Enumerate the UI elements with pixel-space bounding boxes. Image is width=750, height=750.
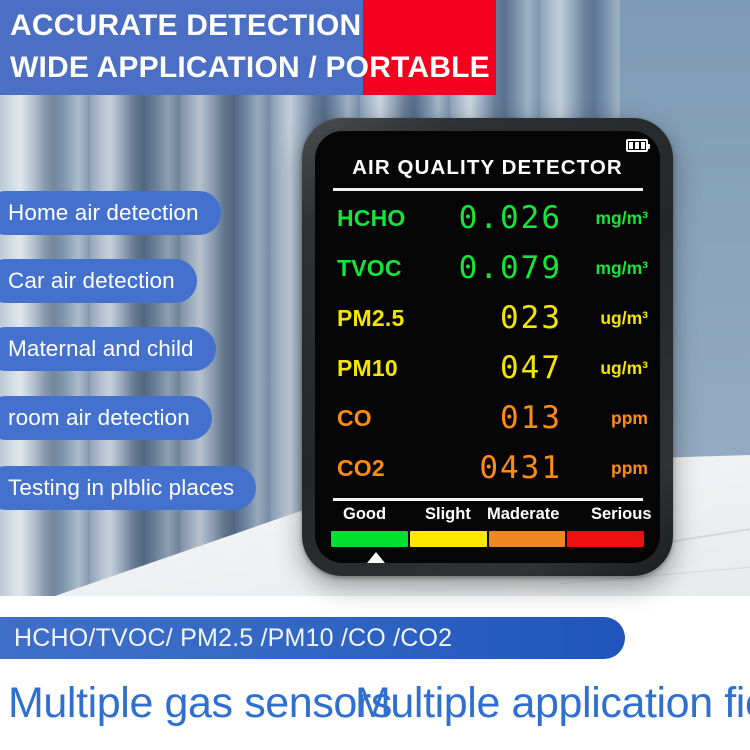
screen-title: AIR QUALITY DETECTOR xyxy=(315,156,660,180)
feature-pill-label: room air detection xyxy=(8,405,190,430)
tagline-right: Multiple application fields xyxy=(355,668,750,738)
reading-unit: ug/m³ xyxy=(600,358,648,379)
quality-pointer-triangle-icon xyxy=(363,552,389,563)
reading-row-co: CO 013 ppm xyxy=(315,393,660,443)
reading-row-tvoc: TVOC 0.079 mg/m³ xyxy=(315,243,660,293)
battery-segment xyxy=(629,142,633,149)
reading-value: 0.079 xyxy=(459,250,562,286)
feature-pill-label: Testing in plblic places xyxy=(8,475,234,500)
reading-value: 047 xyxy=(500,350,562,386)
scale-label-good: Good xyxy=(343,505,386,524)
battery-segment xyxy=(635,142,639,149)
quality-scale-bar xyxy=(331,531,644,547)
device-bezel-inner: AIR QUALITY DETECTOR HCHO 0.026 mg/m³ TV… xyxy=(315,131,660,563)
reading-unit: mg/m³ xyxy=(596,258,649,279)
header-text: ACCURATE DETECTION WIDE APPLICATION / PO… xyxy=(0,0,520,95)
feature-pill-maternal: Maternal and child xyxy=(0,327,216,371)
scale-label-slight: Slight xyxy=(425,505,471,524)
feature-pill-room: room air detection xyxy=(0,396,212,440)
divider-top xyxy=(333,188,643,191)
sensor-list-label: HCHO/TVOC/ PM2.5 /PM10 /CO /CO2 xyxy=(14,624,452,652)
reading-label: PM2.5 xyxy=(337,305,404,332)
readings-list: HCHO 0.026 mg/m³ TVOC 0.079 mg/m³ PM2.5 … xyxy=(315,193,660,493)
reading-row-pm10: PM10 047 ug/m³ xyxy=(315,343,660,393)
reading-value: 013 xyxy=(500,400,562,436)
reading-value: 023 xyxy=(500,300,562,336)
reading-value: 0431 xyxy=(479,450,562,486)
battery-icon xyxy=(626,139,648,152)
reading-label: PM10 xyxy=(337,355,398,382)
promo-image: ACCURATE DETECTION WIDE APPLICATION / PO… xyxy=(0,0,750,750)
reading-label: TVOC xyxy=(337,255,402,282)
scale-label-maderate: Maderate xyxy=(487,505,559,524)
reading-row-hcho: HCHO 0.026 mg/m³ xyxy=(315,193,660,243)
reading-label: CO xyxy=(337,405,372,432)
tagline-left: Multiple gas sensors xyxy=(8,668,392,738)
air-quality-detector-device: AIR QUALITY DETECTOR HCHO 0.026 mg/m³ TV… xyxy=(302,118,673,576)
reading-label: HCHO xyxy=(337,205,406,232)
reading-value: 0.026 xyxy=(459,200,562,236)
header-line-1: ACCURATE DETECTION xyxy=(10,5,520,47)
reading-unit: mg/m³ xyxy=(596,208,649,229)
feature-pill-label: Home air detection xyxy=(8,200,199,225)
scale-segment-maderate xyxy=(489,531,566,547)
scale-segment-serious xyxy=(567,531,644,547)
feature-pill-label: Car air detection xyxy=(8,268,175,293)
footer-taglines: Multiple gas sensors Multiple applicatio… xyxy=(0,668,750,738)
divider-bottom xyxy=(333,498,643,501)
reading-row-co2: CO2 0431 ppm xyxy=(315,443,660,493)
header-line-2: WIDE APPLICATION / PORTABLE xyxy=(10,47,520,89)
reading-unit: ppm xyxy=(611,458,648,479)
reading-label: CO2 xyxy=(337,455,385,482)
feature-pill-car: Car air detection xyxy=(0,259,197,303)
feature-pill-label: Maternal and child xyxy=(8,336,194,361)
battery-segment xyxy=(641,142,645,149)
quality-scale-labels: Good Slight Maderate Serious xyxy=(329,503,646,529)
reading-row-pm25: PM2.5 023 ug/m³ xyxy=(315,293,660,343)
scale-segment-slight xyxy=(410,531,487,547)
scale-label-serious: Serious xyxy=(591,505,652,524)
sensor-list-pill: HCHO/TVOC/ PM2.5 /PM10 /CO /CO2 xyxy=(0,617,625,659)
reading-unit: ppm xyxy=(611,408,648,429)
reading-unit: ug/m³ xyxy=(600,308,648,329)
feature-pill-public: Testing in plblic places xyxy=(0,466,256,510)
device-screen: AIR QUALITY DETECTOR HCHO 0.026 mg/m³ TV… xyxy=(315,131,660,563)
scale-segment-good xyxy=(331,531,408,547)
feature-pill-home: Home air detection xyxy=(0,191,221,235)
